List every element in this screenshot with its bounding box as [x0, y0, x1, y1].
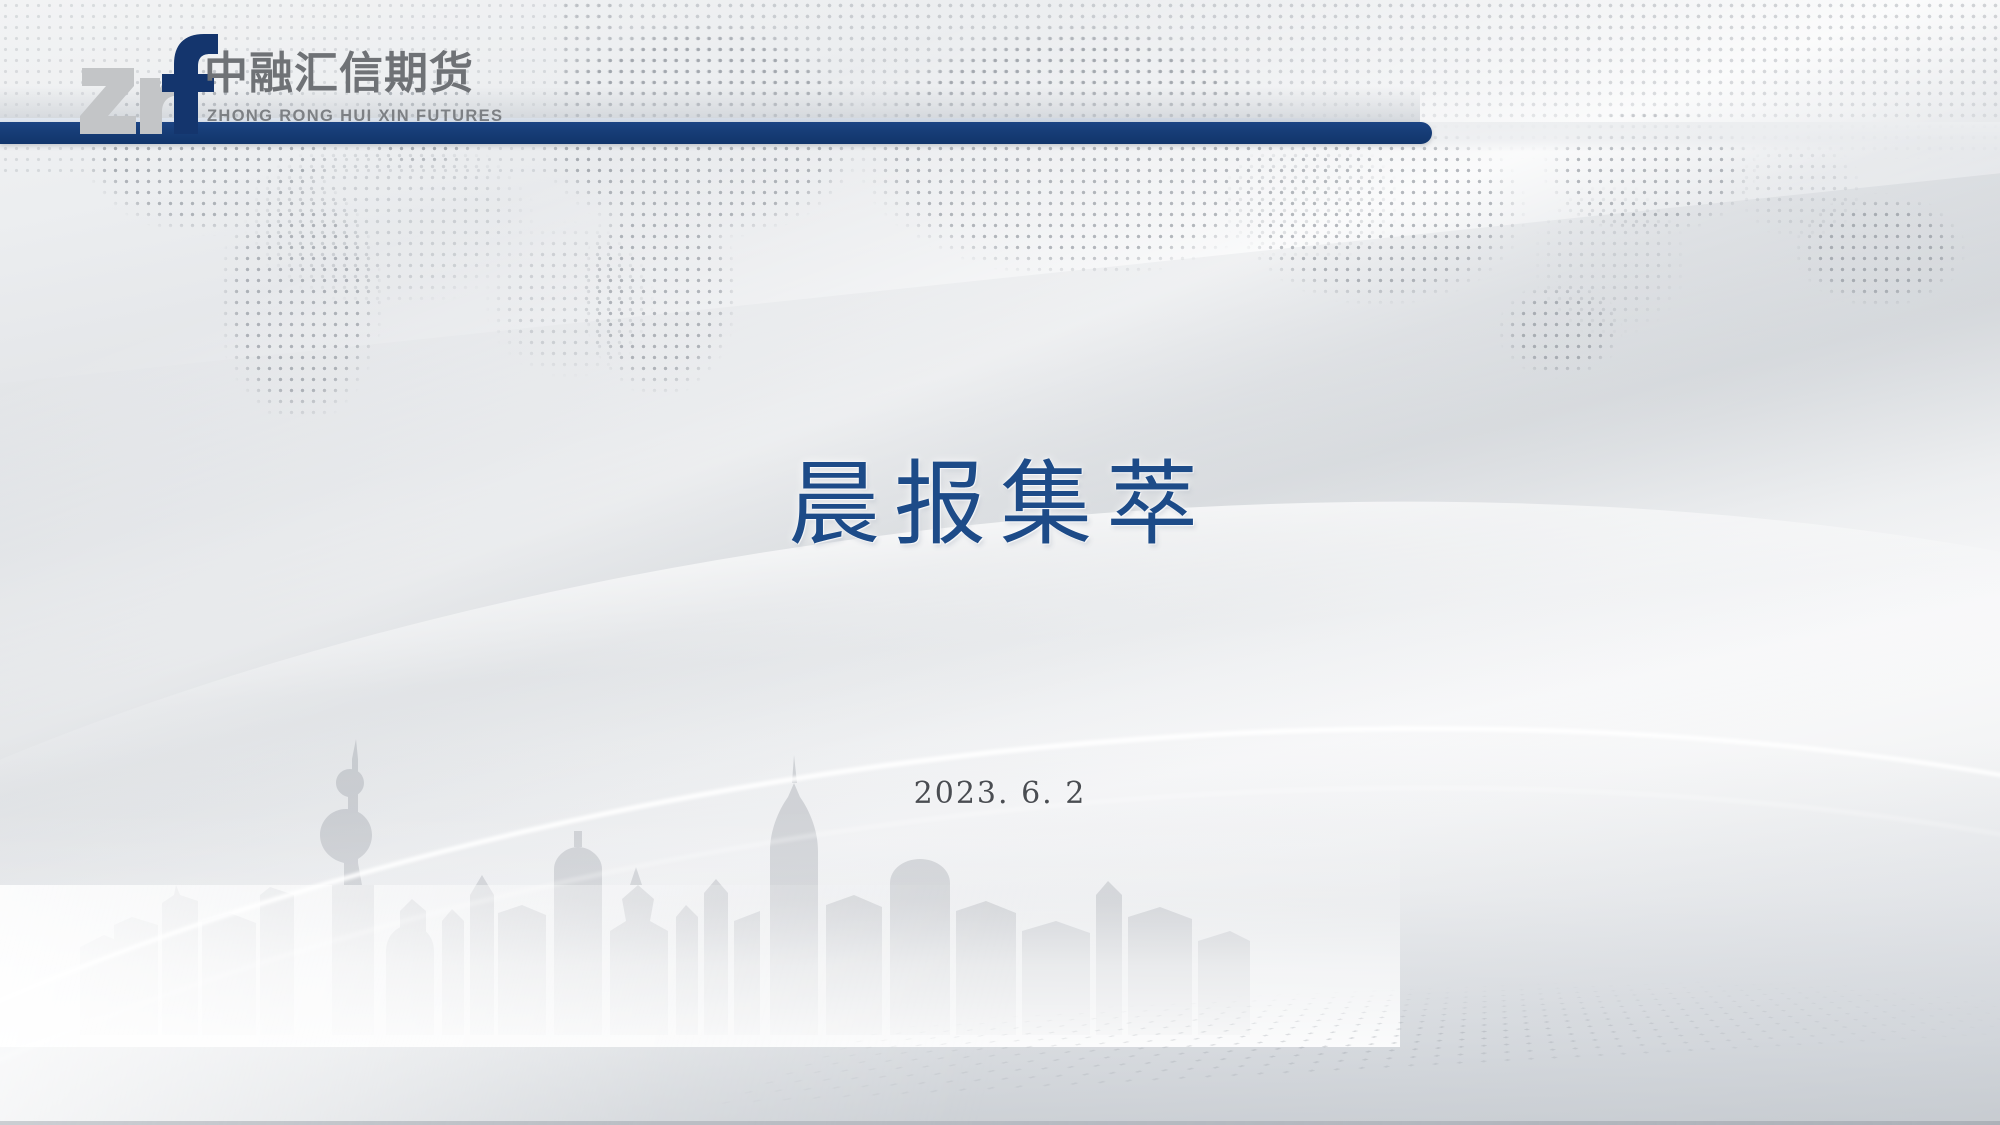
slide-title: 晨报集萃	[0, 430, 2000, 563]
bottom-edge-line	[0, 1121, 2000, 1125]
dot-field-middle	[240, 150, 800, 380]
company-logo: 中融汇信期货 ZHONG RONG HUI XIN FUTURES	[78, 32, 478, 142]
header-gray-band-right	[1420, 122, 2000, 152]
title-slide: 中融汇信期货 ZHONG RONG HUI XIN FUTURES 晨报集萃 2…	[0, 0, 2000, 1125]
company-name-en: ZHONG RONG HUI XIN FUTURES	[207, 107, 503, 126]
slide-date: 2023. 6. 2	[0, 776, 2000, 811]
company-name-cn: 中融汇信期货	[204, 52, 474, 96]
dot-field-right	[1180, 150, 1880, 380]
zrf-monogram-icon	[78, 34, 218, 134]
